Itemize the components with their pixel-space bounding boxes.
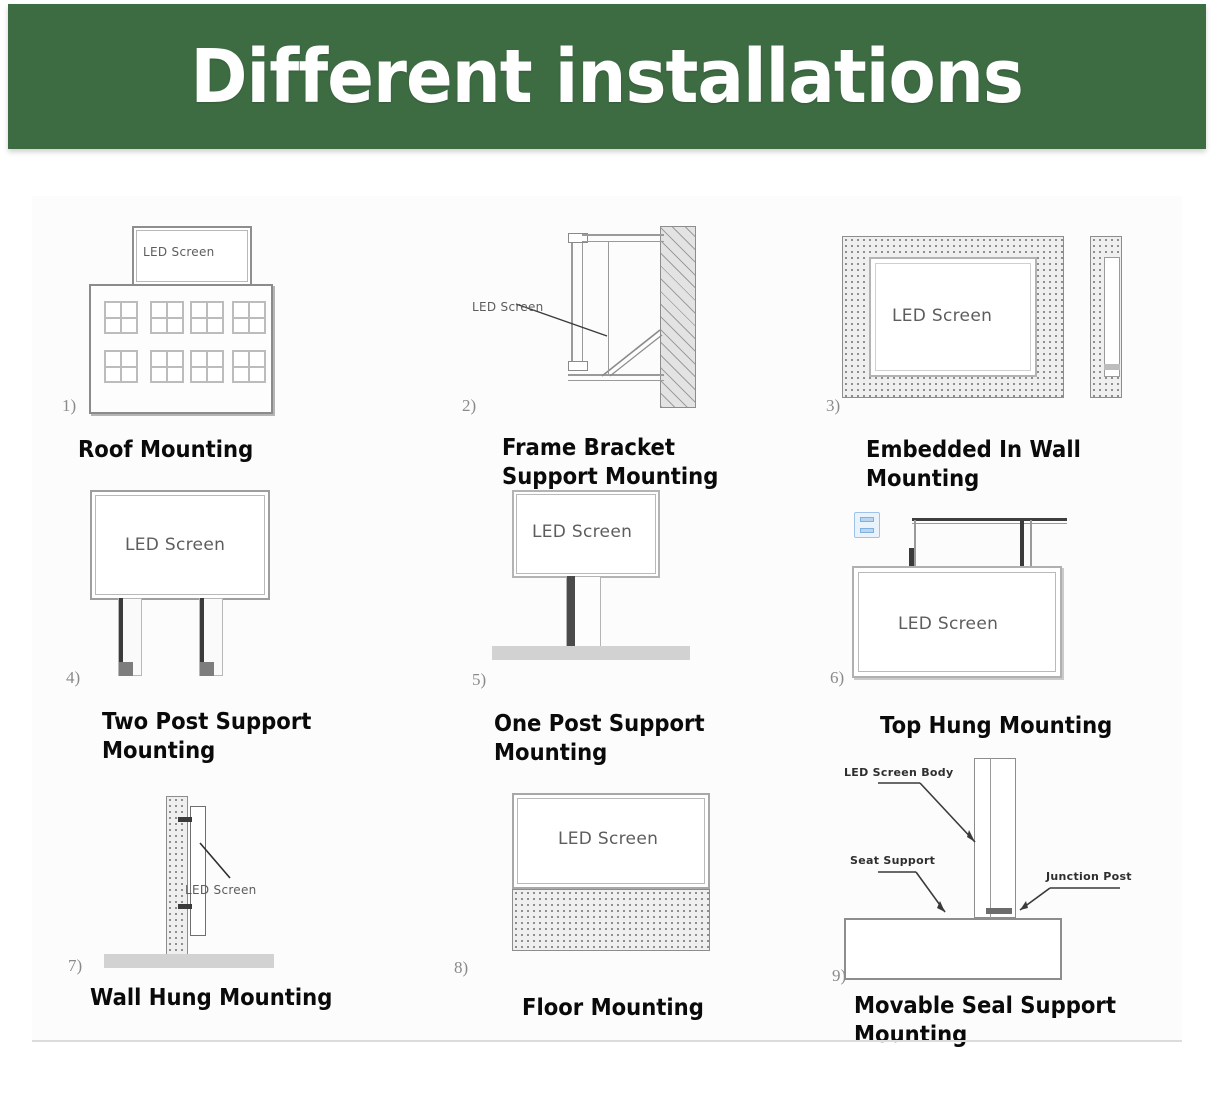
ground-base <box>104 954 274 968</box>
figure-one-post-mounting: LED Screen 5) One Post Support Mounting <box>422 480 812 765</box>
figure-top-hung-mounting: LED Screen 6) Top Hung Mounting <box>812 480 1182 765</box>
figure-number: 4) <box>66 668 80 688</box>
building-window <box>190 350 224 383</box>
figure-number: 6) <box>830 668 844 688</box>
seat-support-label: Seat Support <box>850 854 935 867</box>
figure-number: 2) <box>462 396 476 416</box>
floor-mounting-drawing: LED Screen <box>512 793 772 973</box>
two-post-led-screen-label: LED Screen <box>125 535 225 555</box>
figure-two-post-mounting: LED Screen 4) Two Post Support Mounting <box>32 480 422 765</box>
wall-hung-drawing: LED Screen <box>82 788 372 978</box>
figure-movable-seal-support-mounting: LED Screen Body Seat Support Junction Po… <box>812 744 1182 1041</box>
post-shadow <box>567 576 575 648</box>
page-header: Different installations <box>8 4 1206 149</box>
hanger-left <box>914 520 916 566</box>
led-screen-body-label: LED Screen Body <box>844 766 953 779</box>
panel-bottom-divider <box>32 1040 1182 1042</box>
figure-number: 8) <box>454 958 468 978</box>
frame-bracket-drawing: LED Screen <box>482 218 732 408</box>
figure-embedded-wall-mounting: LED Screen 3) Embedded In Wall Mounting <box>812 196 1182 476</box>
roof-mounting-drawing: LED Screen <box>77 226 337 416</box>
figure-caption: Floor Mounting <box>522 994 704 1023</box>
embedded-led-screen-label: LED Screen <box>892 306 992 326</box>
frame-bracket-led-screen-label: LED Screen <box>472 300 544 314</box>
figure-floor-mounting: LED Screen 8) Floor Mounting <box>422 768 812 1041</box>
movable-seal-drawing: LED Screen Body Seat Support Junction Po… <box>832 750 1172 980</box>
top-beam-lower <box>912 523 1067 524</box>
figure-caption: One Post Support Mounting <box>494 710 705 768</box>
figure-caption: Wall Hung Mounting <box>90 984 332 1013</box>
top-hung-led-screen-label: LED Screen <box>898 614 998 634</box>
figure-caption: Roof Mounting <box>78 436 253 465</box>
figure-caption: Two Post Support Mounting <box>102 708 311 766</box>
hanger-right-outer <box>1030 520 1032 566</box>
hanger-left-dark <box>909 548 914 568</box>
one-post-drawing: LED Screen <box>512 490 772 690</box>
figure-number: 9) <box>832 966 846 986</box>
figure-roof-mounting: LED Screen 1) Roof Mounting <box>32 196 422 476</box>
floor-base-dotted <box>512 889 710 951</box>
wall-hung-led-screen-label: LED Screen <box>185 883 257 897</box>
hanger-right-dark <box>1020 520 1024 566</box>
building-window <box>190 301 224 334</box>
building-window <box>104 350 138 383</box>
inner-frame-edge <box>608 242 609 376</box>
top-hung-drawing: LED Screen <box>842 500 1142 690</box>
figure-frame-bracket-mounting: LED Screen 2) Frame Bracket Support Moun… <box>422 196 812 476</box>
building-window <box>150 350 184 383</box>
one-post-led-screen-label: LED Screen <box>532 522 632 542</box>
figure-number: 7) <box>68 956 82 976</box>
page-title: Different installations <box>191 40 1024 114</box>
figure-caption: Top Hung Mounting <box>880 712 1112 741</box>
figure-number: 1) <box>62 396 76 416</box>
side-view-recess <box>1104 257 1120 377</box>
roof-led-screen-label: LED Screen <box>143 245 215 259</box>
embedded-wall-drawing: LED Screen <box>842 236 1142 406</box>
ground-base <box>492 646 690 660</box>
figure-number: 3) <box>826 396 840 416</box>
floor-led-screen-label: LED Screen <box>558 829 658 849</box>
side-view-base <box>1104 364 1120 370</box>
top-beam <box>912 518 1067 521</box>
junction-post-label: Junction Post <box>1046 870 1132 883</box>
post-right-foot <box>200 662 214 676</box>
figure-number: 5) <box>472 670 486 690</box>
diagram-grid: LED Screen 1) Roof Mounting <box>32 196 1182 1041</box>
broken-image-icon <box>854 512 880 538</box>
building-window <box>232 301 266 334</box>
building-window <box>232 350 266 383</box>
building-window <box>104 301 138 334</box>
figure-wall-hung-mounting: LED Screen 7) Wall Hung Mounting <box>32 768 422 1041</box>
diagram-panel: LED Screen 1) Roof Mounting <box>32 196 1182 1041</box>
post-left-foot <box>119 662 133 676</box>
two-post-drawing: LED Screen <box>62 490 342 690</box>
building-window <box>150 301 184 334</box>
